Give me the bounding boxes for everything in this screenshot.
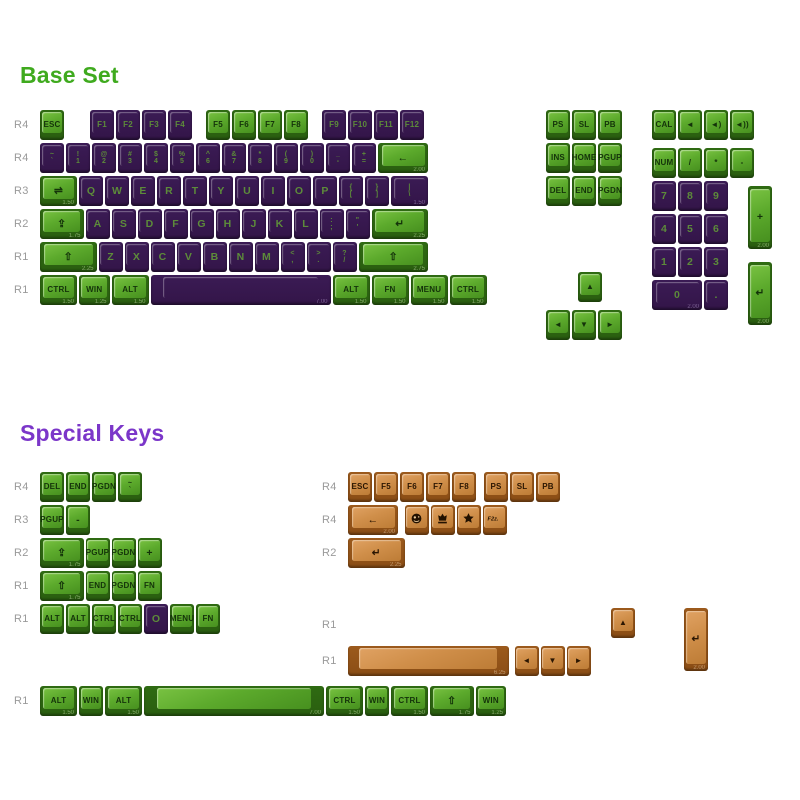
keycap-face xyxy=(750,189,771,243)
keycap-blank[interactable]: ~` xyxy=(118,472,142,502)
keycap-face xyxy=(42,145,63,166)
keycap-blank[interactable]: ► xyxy=(567,646,591,676)
keycap-win[interactable]: WIN1.25 xyxy=(476,686,507,716)
keycap-f6[interactable]: F6 xyxy=(400,472,424,502)
keycap-face xyxy=(139,540,160,561)
keycap-face xyxy=(574,312,595,333)
keycap-blank[interactable]: ←2.00 xyxy=(378,143,428,173)
keycap-blank[interactable]: ▼ xyxy=(572,310,596,340)
keycap-f6[interactable]: F6 xyxy=(232,110,256,140)
keycap-face xyxy=(428,474,449,495)
keycap-pgdn[interactable]: PGDN xyxy=(112,571,136,601)
keycap-face xyxy=(548,178,569,199)
keycap-face xyxy=(548,112,569,133)
keycap-unit-size: 1.50 xyxy=(62,710,74,716)
keycap-menu[interactable]: MENU xyxy=(170,604,194,634)
keycap-i[interactable]: I xyxy=(261,176,285,206)
keycap-blank[interactable]: += xyxy=(352,143,376,173)
keycap-face xyxy=(100,244,121,265)
keycap-2[interactable]: @2 xyxy=(92,143,116,173)
keycap-face xyxy=(146,145,167,166)
keycap-6[interactable]: 6 xyxy=(704,214,728,244)
keycap-face xyxy=(152,244,173,265)
keycap-blank[interactable]: ⇧1.75 xyxy=(430,686,474,716)
keycap-blank[interactable]: ⇌1.50 xyxy=(40,176,77,206)
keycap-alt[interactable]: ALT1.50 xyxy=(105,686,142,716)
keycap-face xyxy=(600,145,621,166)
keycap-pgup[interactable]: PGUP xyxy=(40,505,64,535)
keycap-u[interactable]: U xyxy=(235,176,259,206)
keycap-face xyxy=(157,688,312,709)
keycap-face xyxy=(263,178,284,199)
keycap-blank[interactable]: ◄ xyxy=(678,110,702,140)
keycap-unit-size: 1.50 xyxy=(433,299,445,305)
keycap-cal[interactable]: CAL xyxy=(652,110,676,140)
keycap-ps[interactable]: PS xyxy=(546,110,570,140)
keycap-novelty-crown-icon[interactable] xyxy=(431,505,455,535)
keycap-face xyxy=(302,145,323,166)
keycap-n[interactable]: N xyxy=(229,242,253,272)
keycap-y[interactable]: Y xyxy=(209,176,233,206)
keycap-face xyxy=(191,211,212,232)
keycap-face xyxy=(81,178,102,199)
keycap-unit-size: 1.25 xyxy=(95,299,107,305)
keycap-esc[interactable]: ESC xyxy=(40,110,64,140)
keycap-r[interactable]: R xyxy=(157,176,181,206)
keycap-face xyxy=(230,244,251,265)
keycap-face xyxy=(706,216,727,237)
keycap-q[interactable]: Q xyxy=(79,176,103,206)
keycap-pgdn[interactable]: PGDN xyxy=(112,538,136,568)
keycap-face xyxy=(315,178,336,199)
keycap-blank[interactable]: "' xyxy=(346,209,370,239)
keycap-face xyxy=(600,178,621,199)
keycap-blank[interactable]: :; xyxy=(320,209,344,239)
row-label: R1 xyxy=(14,696,40,707)
keycap-face xyxy=(394,688,426,709)
keycap-novelty-face-icon[interactable] xyxy=(405,505,429,535)
keycap-0[interactable]: )0 xyxy=(300,143,324,173)
keycap-4[interactable]: 4 xyxy=(652,214,676,244)
keycap-unit-size: 1.75 xyxy=(459,710,471,716)
keycap-blank[interactable]: ▼ xyxy=(541,646,565,676)
keycap-m[interactable]: M xyxy=(255,242,279,272)
keycap-unit-size: 2.00 xyxy=(693,665,705,671)
keycap-s[interactable]: S xyxy=(112,209,136,239)
keycap-j[interactable]: J xyxy=(242,209,266,239)
row-keys: ⇧2.25ZXCVBNM<,>.?/⇧2.75 xyxy=(40,242,430,272)
keycap-b[interactable]: B xyxy=(203,242,227,272)
keycap-a[interactable]: A xyxy=(86,209,110,239)
keycap-k[interactable]: K xyxy=(268,209,292,239)
keycap-blank[interactable]: - xyxy=(66,505,90,535)
keycap-f5[interactable]: F5 xyxy=(374,472,398,502)
keycap-ps[interactable]: PS xyxy=(484,472,508,502)
keycap-8[interactable]: 8 xyxy=(678,181,702,211)
keycap-del[interactable]: DEL xyxy=(546,176,570,206)
base-set-arrow-up-cluster: ▲ xyxy=(578,272,604,302)
keycap-home[interactable]: HOME xyxy=(572,143,596,173)
keycap-v[interactable]: V xyxy=(177,242,201,272)
keycap-face xyxy=(120,474,141,495)
keycap-face xyxy=(484,507,505,528)
keycap-blank[interactable]: ←2.00 xyxy=(348,505,398,535)
keycap-face xyxy=(548,312,569,333)
keyboard-row: R1ALTALTCTRLCTRLOMENUFN xyxy=(14,604,222,634)
keycap-blank[interactable]: ⇧2.25 xyxy=(40,242,97,272)
keycap-unit-size: 2.25 xyxy=(82,266,94,272)
keycap-face xyxy=(43,540,80,561)
keycap-face xyxy=(243,211,264,232)
row-keys: ←2.00F2z. xyxy=(348,505,509,535)
keycap-f5[interactable]: F5 xyxy=(206,110,230,140)
keycap-unit-size: 7.00 xyxy=(316,299,328,305)
special-keys-title: Special Keys xyxy=(20,420,164,447)
keycap-face xyxy=(114,277,146,298)
row-keys: ⇧1.75ENDPGDNFN xyxy=(40,571,164,601)
row-keys: ESCF1F2F3F4F5F6F7F8F9F10F11F12 xyxy=(40,110,426,140)
keycap-alt[interactable]: ALT1.50 xyxy=(40,686,77,716)
keycap-set-page: Base Set R4ESCF1F2F3F4F5F6F7F8F9F10F11F1… xyxy=(0,0,800,800)
keycap-f1[interactable]: F1 xyxy=(90,110,114,140)
keycap-face xyxy=(211,178,232,199)
row-label: R4 xyxy=(322,482,348,493)
keycap-5[interactable]: %5 xyxy=(170,143,194,173)
keycap-blank[interactable]: +2.00 xyxy=(748,186,772,249)
keycap-7[interactable]: &7 xyxy=(222,143,246,173)
key-group: ◄▼► xyxy=(546,310,624,340)
keycap-unit-size: 1.50 xyxy=(472,299,484,305)
keyboard-row: R2⇪1.75ASDFGHJKL:;"'↵2.25 xyxy=(14,209,489,239)
row-label: R1 xyxy=(14,614,40,625)
keycap-f9[interactable]: F9 xyxy=(322,110,346,140)
keycap-face xyxy=(732,150,753,171)
keycap-o[interactable]: O xyxy=(287,176,311,206)
keycap-ins[interactable]: INS xyxy=(546,143,570,173)
keycap-blank[interactable]: >. xyxy=(307,242,331,272)
keycap-f3[interactable]: F3 xyxy=(142,110,166,140)
keycap-z[interactable]: Z xyxy=(99,242,123,272)
keyboard-row: R2⇪1.75PGUPPGDN+ xyxy=(14,538,222,568)
keycap-3[interactable]: 3 xyxy=(704,247,728,277)
keycap-1[interactable]: 1 xyxy=(652,247,676,277)
keycap-face xyxy=(282,244,303,265)
keycap-blank[interactable]: 7.00 xyxy=(144,686,324,716)
keycap-del[interactable]: DEL xyxy=(40,472,64,502)
keycap-blank[interactable]: 6.25 xyxy=(348,646,509,676)
keycap-face xyxy=(139,211,160,232)
keycap-esc[interactable]: ESC xyxy=(348,472,372,502)
keycap-face xyxy=(654,150,675,171)
keycap-blank[interactable]: ► xyxy=(598,310,622,340)
special-keys-orange-enter: ↵2.00 xyxy=(684,608,710,671)
keycap-alt[interactable]: ALT xyxy=(40,604,64,634)
keycap-blank[interactable]: ⇧2.75 xyxy=(359,242,429,272)
keycap-face xyxy=(376,474,397,495)
keycap-blank[interactable]: ↵2.00 xyxy=(748,262,772,325)
keycap-ctrl[interactable]: CTRL1.50 xyxy=(326,686,363,716)
keycap-9[interactable]: (9 xyxy=(274,143,298,173)
keycap-blank[interactable]: ?/ xyxy=(333,242,357,272)
keycap-face xyxy=(454,474,475,495)
keycap-face xyxy=(568,648,589,669)
base-set-numpad-plus: +2.00 xyxy=(748,186,774,249)
keycap-fn[interactable]: FN xyxy=(196,604,220,634)
keycap-face xyxy=(359,648,497,669)
keycap-face xyxy=(406,507,427,528)
keycap-blank[interactable]: _- xyxy=(326,143,350,173)
keycap-face xyxy=(335,277,367,298)
keyboard-row: R1⇧1.75ENDPGDNFN xyxy=(14,571,222,601)
row-label: R1 xyxy=(322,620,348,631)
keycap-face xyxy=(600,312,621,333)
keycap-4[interactable]: $4 xyxy=(144,143,168,173)
keycap-face xyxy=(350,474,371,495)
row-keys: ↵2.25 xyxy=(348,538,407,568)
row-keys: ⇪1.75PGUPPGDN+ xyxy=(40,538,164,568)
keycap-face xyxy=(163,277,318,298)
keycap-blank[interactable]: |\1.50 xyxy=(391,176,428,206)
keycap-face xyxy=(68,145,89,166)
keyboard-row: NUM/*- xyxy=(652,148,756,178)
keycap-t[interactable]: T xyxy=(183,176,207,206)
keycap-alt[interactable]: ALT1.50 xyxy=(333,275,370,305)
special-keys-right-rows: R4ESCF5F6F7F8PSSLPBR4←2.00F2z.R2↵2.25 xyxy=(322,472,562,571)
base-set-nav-cluster: R4PSSLPBR4INSHOMEPGUPR3DELENDPGDN xyxy=(546,110,624,209)
keycap-alt[interactable]: ALT1.50 xyxy=(112,275,149,305)
key-group: ▲ xyxy=(611,608,637,638)
key-group: ↵2.00 xyxy=(684,608,710,671)
row-keys: DELENDPGDN xyxy=(546,176,624,206)
row-label: R1 xyxy=(14,581,40,592)
keycap-8[interactable]: *8 xyxy=(248,143,272,173)
keycap-w[interactable]: W xyxy=(105,176,129,206)
keycap-face xyxy=(198,606,219,627)
keycap-blank[interactable]: ◄ xyxy=(515,646,539,676)
keycap-9[interactable]: 9 xyxy=(704,181,728,211)
keycap-face xyxy=(538,474,559,495)
keyboard-row: R4PSSLPB xyxy=(546,110,624,140)
keycap-face xyxy=(43,277,75,298)
keycap-ctrl[interactable]: CTRL xyxy=(92,604,116,634)
row-keys: 123 xyxy=(652,247,730,277)
row-label: R4 xyxy=(14,482,40,493)
keycap-blank[interactable]: - xyxy=(730,148,754,178)
keycap-face xyxy=(324,112,345,133)
keycap-pgup[interactable]: PGUP xyxy=(598,143,622,173)
keycap-face xyxy=(44,244,93,265)
keycap-p[interactable]: P xyxy=(313,176,337,206)
row-label: R4 xyxy=(14,153,40,164)
row-label: R3 xyxy=(14,186,40,197)
keycap-h[interactable]: H xyxy=(216,209,240,239)
keycap-face xyxy=(452,277,484,298)
keycap-f2[interactable]: F2 xyxy=(116,110,140,140)
keycap-unit-size: 7.00 xyxy=(309,710,321,716)
keycap-f4[interactable]: F4 xyxy=(168,110,192,140)
keycap-f8[interactable]: F8 xyxy=(284,110,308,140)
keycap-f8[interactable]: F8 xyxy=(452,472,476,502)
row-keys: PGUP- xyxy=(40,505,92,535)
keycap-f12[interactable]: F12 xyxy=(400,110,424,140)
keycap-face xyxy=(574,145,595,166)
keycap-1[interactable]: !1 xyxy=(66,143,90,173)
keycap-face xyxy=(334,244,355,265)
keycap-novelty-flower-icon[interactable] xyxy=(457,505,481,535)
keycap-face xyxy=(600,112,621,133)
keycap-blank[interactable]: ▲ xyxy=(611,608,635,638)
keycap-ctrl[interactable]: CTRL1.50 xyxy=(391,686,428,716)
keycap-unit-size: 1.50 xyxy=(348,710,360,716)
keycap-face xyxy=(308,244,329,265)
keycap-face xyxy=(269,211,290,232)
keycap-blank[interactable]: . xyxy=(704,280,728,310)
keycap-blank[interactable]: 7.00 xyxy=(151,275,331,305)
keyboard-row: R4DELENDPGDN~` xyxy=(14,472,222,502)
keycap-alt[interactable]: ALT xyxy=(66,604,90,634)
keycap-o[interactable]: O xyxy=(144,604,168,634)
keycap-7[interactable]: 7 xyxy=(652,181,676,211)
keycap-blank[interactable]: ↵2.25 xyxy=(348,538,405,568)
keycap-blank[interactable]: <, xyxy=(281,242,305,272)
keycap-face xyxy=(198,145,219,166)
keycap-face xyxy=(680,150,701,171)
keycap-ctrl[interactable]: CTRL xyxy=(118,604,142,634)
keycap-blank[interactable]: ◄) xyxy=(704,110,728,140)
keyboard-row: R3⇌1.50QWERTYUIOP{[}]|\1.50 xyxy=(14,176,489,206)
keycap-menu[interactable]: MENU1.50 xyxy=(411,275,448,305)
keycap-face xyxy=(286,112,307,133)
keycap-face xyxy=(295,211,316,232)
row-label: R2 xyxy=(322,548,348,559)
keyboard-row: 123 xyxy=(652,247,756,277)
keycap-pb[interactable]: PB xyxy=(598,110,622,140)
keycap-face xyxy=(276,145,297,166)
keycap-pgup[interactable]: PGUP xyxy=(86,538,110,568)
keycap-face xyxy=(680,216,701,237)
keycap-unit-size: 6.25 xyxy=(494,670,506,676)
keycap-face xyxy=(113,573,134,594)
keycap-blank[interactable]: ↵2.25 xyxy=(372,209,429,239)
keycap-sl[interactable]: SL xyxy=(572,110,596,140)
keycap-face xyxy=(204,244,225,265)
keycap-blank[interactable]: + xyxy=(138,538,162,568)
keycap-face xyxy=(680,183,701,204)
keycap-face xyxy=(402,474,423,495)
keycap-face xyxy=(43,178,75,199)
keycap-end[interactable]: END xyxy=(572,176,596,206)
keycap-pb[interactable]: PB xyxy=(536,472,560,502)
special-keys-left-rows: R4DELENDPGDN~`R3PGUP-R2⇪1.75PGUPPGDN+R1⇧… xyxy=(14,472,222,637)
row-label: R2 xyxy=(14,548,40,559)
row-keys: 789 xyxy=(652,181,730,211)
keycap-unit-size: 1.50 xyxy=(62,299,74,305)
keycap-face xyxy=(113,211,134,232)
keycap-face xyxy=(486,474,507,495)
keycap-blank[interactable]: * xyxy=(704,148,728,178)
keyboard-row: R4INSHOMEPGUP xyxy=(546,143,624,173)
keycap-x[interactable]: X xyxy=(125,242,149,272)
row-keys: 02.00. xyxy=(652,280,730,310)
special-keys-bottom-row: R1ALT1.50WINALT1.507.00CTRL1.50WINCTRL1.… xyxy=(14,686,508,719)
keycap-face xyxy=(42,507,63,528)
keycap-face xyxy=(208,112,229,133)
keycap-blank[interactable]: / xyxy=(678,148,702,178)
keycap-c[interactable]: C xyxy=(151,242,175,272)
keycap-blank[interactable]: ⇪1.75 xyxy=(40,538,84,568)
keycap-face xyxy=(341,178,362,199)
keycap-g[interactable]: G xyxy=(190,209,214,239)
keycap-f11[interactable]: F11 xyxy=(374,110,398,140)
keycap-l[interactable]: L xyxy=(294,209,318,239)
keycap-face xyxy=(256,244,277,265)
keycap-pgdn[interactable]: PGDN xyxy=(598,176,622,206)
keycap-blank[interactable]: ◄ xyxy=(546,310,570,340)
keycap-blank[interactable]: ⇪1.75 xyxy=(40,209,84,239)
keycap-f7[interactable]: F7 xyxy=(426,472,450,502)
keycap-2[interactable]: 2 xyxy=(678,247,702,277)
keycap-end[interactable]: END xyxy=(66,472,90,502)
keycap-blank[interactable]: ↵2.00 xyxy=(684,608,708,671)
keycap-unit-size: 2.00 xyxy=(413,167,425,173)
keycap-face xyxy=(87,540,108,561)
keycap-3[interactable]: #3 xyxy=(118,143,142,173)
keycap-fn[interactable]: FN1.50 xyxy=(372,275,409,305)
keycap-fn[interactable]: FN xyxy=(138,571,162,601)
keycap-f7[interactable]: F7 xyxy=(258,110,282,140)
keycap-face xyxy=(376,112,397,133)
keycap-0[interactable]: 02.00 xyxy=(652,280,702,310)
base-set-arrow-cluster: ◄▼► xyxy=(546,310,624,340)
keycap-blank[interactable]: ▲ xyxy=(578,272,602,302)
keycap-blank[interactable]: {[ xyxy=(339,176,363,206)
keycap-novelty-text-icon[interactable]: F2z. xyxy=(483,505,507,535)
row-keys: ⇪1.75ASDFGHJKL:;"'↵2.25 xyxy=(40,209,430,239)
keycap-blank[interactable]: }] xyxy=(365,176,389,206)
keycap-f[interactable]: F xyxy=(164,209,188,239)
keyboard-row: R3PGUP- xyxy=(14,505,222,535)
keycap-win[interactable]: WIN xyxy=(365,686,389,716)
keycap-face xyxy=(42,112,63,133)
keycap-end[interactable]: END xyxy=(86,571,110,601)
keycap-unit-size: 1.50 xyxy=(413,200,425,206)
keycap-e[interactable]: E xyxy=(131,176,155,206)
keycap-unit-size: 2.00 xyxy=(757,319,769,325)
keycap-pgdn[interactable]: PGDN xyxy=(92,472,116,502)
keycap-sl[interactable]: SL xyxy=(510,472,534,502)
keycap-face xyxy=(374,277,406,298)
keycap-6[interactable]: ^6 xyxy=(196,143,220,173)
keycap-num[interactable]: NUM xyxy=(652,148,676,178)
keycap-blank[interactable]: ⇧1.75 xyxy=(40,571,84,601)
keycap-f10[interactable]: F10 xyxy=(348,110,372,140)
keycap-win[interactable]: WIN1.25 xyxy=(79,275,110,305)
keycap-face xyxy=(139,573,160,594)
keycap-d[interactable]: D xyxy=(138,209,162,239)
keycap-face xyxy=(250,145,271,166)
keycap-face xyxy=(382,145,425,166)
keycap-win[interactable]: WIN xyxy=(79,686,103,716)
keycap-face xyxy=(375,211,424,232)
row-label: R2 xyxy=(14,219,40,230)
keycap-ctrl[interactable]: CTRL1.50 xyxy=(40,275,77,305)
keycap-blank[interactable]: ~` xyxy=(40,143,64,173)
keycap-ctrl[interactable]: CTRL1.50 xyxy=(450,275,487,305)
key-group: +2.00 xyxy=(748,186,774,249)
keycap-blank[interactable]: ◄)) xyxy=(730,110,754,140)
keycap-5[interactable]: 5 xyxy=(678,214,702,244)
keycap-face xyxy=(234,112,255,133)
